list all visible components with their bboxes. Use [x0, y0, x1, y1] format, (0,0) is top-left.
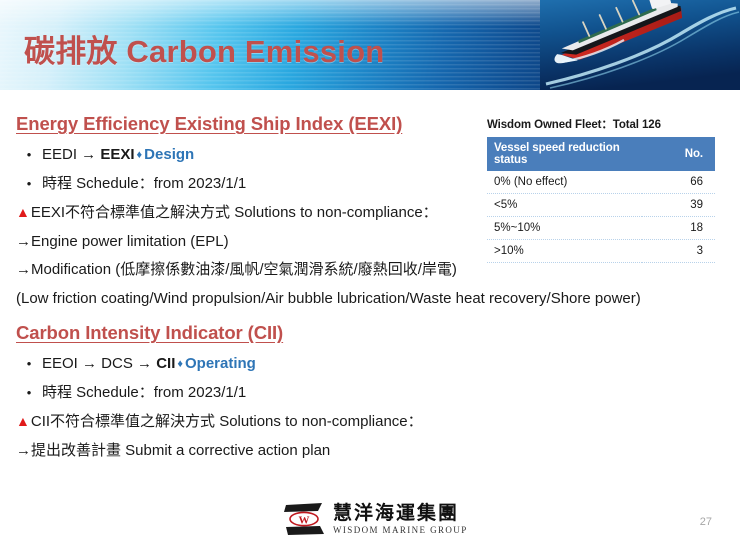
logo-chinese-name: 慧洋海運集團	[333, 503, 468, 524]
column-header-status: Vessel speed reduction status	[487, 137, 642, 171]
bullet-dot-icon: •	[16, 356, 42, 373]
solutions-text: EEXI不符合標準值之解決方式 Solutions to non-complia…	[31, 204, 438, 221]
cell-status: <5%	[487, 194, 642, 217]
table-row: >10% 3	[487, 240, 715, 263]
fleet-table-caption: Wisdom Owned Fleet：Total 126	[487, 116, 715, 132]
diamond-icon: ♦	[135, 149, 145, 161]
cell-no: 18	[642, 217, 715, 240]
wisdom-marine-logo-icon: W	[282, 500, 326, 538]
solutions-line-cii: ▲CII不符合標準值之解決方式 Solutions to non-complia…	[16, 412, 716, 432]
bullet-dot-icon: •	[16, 176, 42, 193]
bullet-dot-icon: •	[16, 147, 42, 164]
bullet-text: 時程 Schedule：from 2023/1/1	[42, 174, 246, 194]
svg-text:W: W	[299, 515, 310, 527]
cell-no: 66	[642, 171, 715, 194]
column-header-no: No.	[642, 137, 715, 171]
cell-status: 0% (No effect)	[487, 171, 642, 194]
cell-no: 3	[642, 240, 715, 263]
logo-wordmark: 慧洋海運集團 WISDOM MARINE GROUP	[333, 503, 468, 536]
bullet-bold-term: CII	[156, 355, 175, 372]
bullet-dot-icon: •	[16, 385, 42, 402]
cell-status: 5%~10%	[487, 217, 642, 240]
slide-body: Energy Efficiency Existing Ship Index (E…	[0, 90, 740, 556]
bullet-highlight-word: Operating	[185, 355, 256, 372]
section-heading-cii: Carbon Intensity Indicator (CII)	[16, 321, 283, 344]
section-cii: Carbon Intensity Indicator (CII) • EEOI …	[16, 321, 716, 460]
table-row: 0% (No effect) 66	[487, 171, 715, 194]
red-triangle-icon: ▲	[16, 413, 31, 429]
solution-modification-translation: (Low friction coating/Wind propulsion/Ai…	[16, 289, 716, 309]
table-row: 5%~10% 18	[487, 217, 715, 240]
red-triangle-icon: ▲	[16, 204, 31, 220]
bullet-highlight-word: Design	[144, 146, 194, 163]
table-head: Vessel speed reduction status No.	[487, 137, 715, 171]
bullet-text: EEOI → DCS → CII♦Operating	[42, 354, 256, 374]
bullet-pre-text: EEOI → DCS →	[42, 355, 156, 372]
bullet-bold-term: EEXI	[100, 146, 134, 163]
table-row: <5% 39	[487, 194, 715, 217]
solutions-text: CII不符合標準值之解決方式 Solutions to non-complian…	[31, 413, 423, 430]
fleet-speed-reduction-table: Vessel speed reduction status No. 0% (No…	[487, 137, 715, 263]
fleet-table-block: Wisdom Owned Fleet：Total 126 Vessel spee…	[487, 116, 715, 263]
company-logo: W 慧洋海運集團 WISDOM MARINE GROUP	[282, 500, 468, 538]
table-body: 0% (No effect) 66 <5% 39 5%~10% 18 >10% …	[487, 171, 715, 263]
cell-status: >10%	[487, 240, 642, 263]
cell-no: 39	[642, 194, 715, 217]
bullet-schedule-cii: • 時程 Schedule：from 2023/1/1	[16, 383, 716, 403]
bullet-eeoi-cii: • EEOI → DCS → CII♦Operating	[16, 354, 716, 374]
page-number: 27	[700, 516, 712, 528]
diamond-icon: ♦	[175, 358, 185, 370]
bullet-pre-text: EEDI →	[42, 146, 100, 163]
slide-header-banner: 碳排放 Carbon Emission	[0, 0, 740, 90]
ship-photo	[540, 0, 740, 90]
solution-corrective-action-plan: →提出改善計畫 Submit a corrective action plan	[16, 441, 716, 461]
slide-footer: W 慧洋海運集團 WISDOM MARINE GROUP 27	[0, 494, 740, 556]
logo-english-name: WISDOM MARINE GROUP	[333, 525, 468, 535]
table-header-row: Vessel speed reduction status No.	[487, 137, 715, 171]
bullet-text: 時程 Schedule：from 2023/1/1	[42, 383, 246, 403]
bullet-text: EEDI → EEXI♦Design	[42, 145, 194, 165]
page-title: 碳排放 Carbon Emission	[24, 26, 384, 71]
section-heading-eexi: Energy Efficiency Existing Ship Index (E…	[16, 112, 402, 135]
